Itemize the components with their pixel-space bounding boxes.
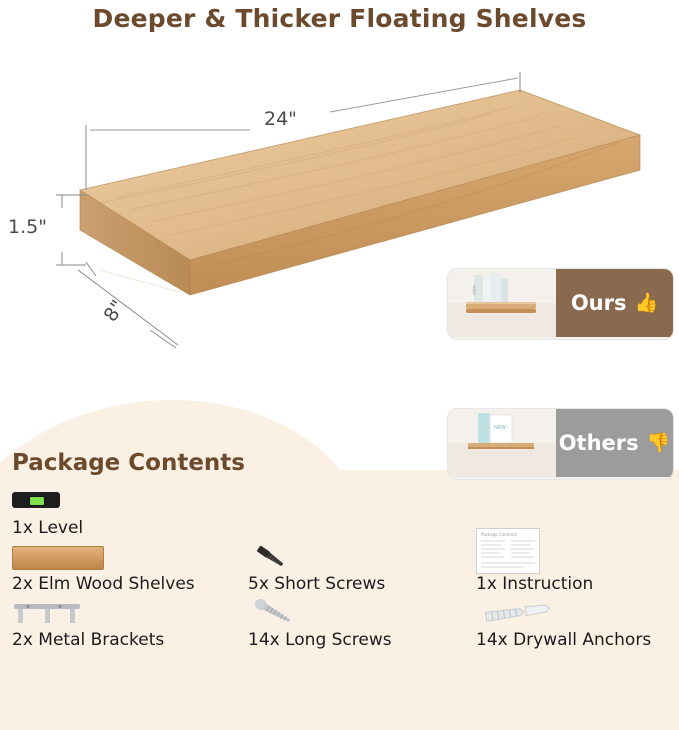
- ours-label-text: Ours: [571, 291, 627, 315]
- ours-photo: mm: [448, 269, 566, 337]
- svg-text:mm: mm: [472, 285, 478, 295]
- dimension-guides: [0, 0, 679, 400]
- package-item-label-short-screws: 5x Short Screws: [248, 574, 385, 594]
- others-photo: NEW: [448, 409, 566, 477]
- package-item-label-shelves: 2x Elm Wood Shelves: [12, 574, 195, 594]
- short-screw-icon: [252, 542, 286, 572]
- level-tool-icon: [12, 492, 60, 508]
- svg-text:Package Contents: Package Contents: [481, 532, 517, 537]
- svg-text:NEW: NEW: [494, 425, 506, 431]
- others-label-pill: Others 👎: [556, 409, 673, 477]
- product-infographic: Deeper & Thicker Floating Shelves: [0, 0, 679, 659]
- wood-shelf-icon: [12, 546, 104, 570]
- comparison-card-ours: mm Ours 👍: [447, 268, 674, 340]
- package-item-label-brackets: 2x Metal Brackets: [12, 630, 164, 650]
- instruction-sheet-icon: Package Contents: [476, 528, 540, 574]
- package-item-label-long-screws: 14x Long Screws: [248, 630, 392, 650]
- thumbs-down-icon: 👎: [647, 434, 671, 453]
- dimension-length-label: 24": [264, 108, 297, 130]
- metal-bracket-icon: [12, 600, 84, 626]
- comparison-card-others: NEW Others 👎: [447, 408, 674, 480]
- long-screw-icon: [250, 596, 294, 628]
- ours-label-pill: Ours 👍: [556, 269, 673, 337]
- package-item-label-anchors: 14x Drywall Anchors: [476, 630, 651, 650]
- package-item-label-instruction: 1x Instruction: [476, 574, 593, 594]
- drywall-anchor-icon: [480, 598, 550, 626]
- dimension-thickness-label: 1.5": [8, 216, 47, 238]
- thumbs-up-icon: 👍: [635, 294, 659, 313]
- package-item-label-level: 1x Level: [12, 518, 83, 538]
- others-label-text: Others: [559, 431, 639, 455]
- package-contents-heading: Package Contents: [12, 450, 245, 476]
